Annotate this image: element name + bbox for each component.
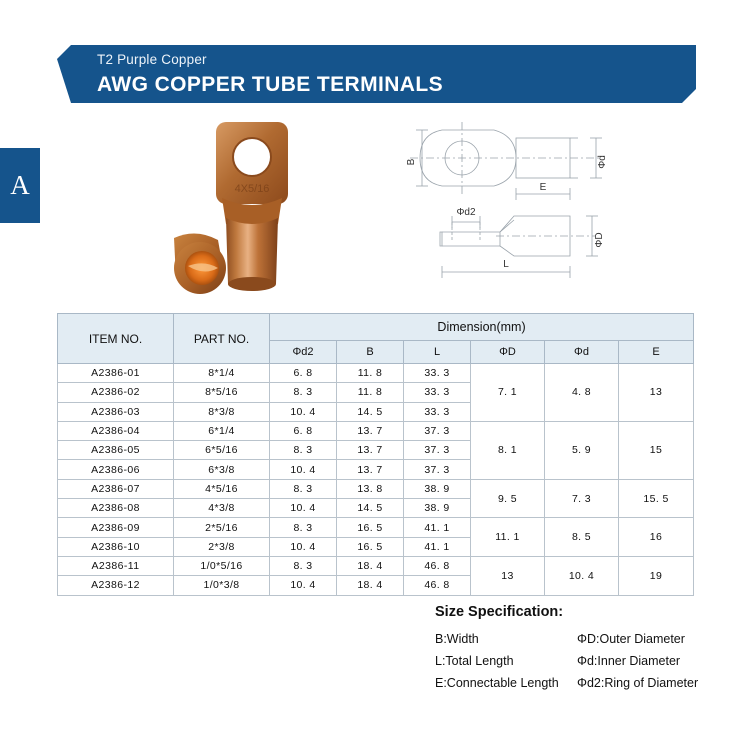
table-row: A2386-111/0*5/168. 318. 446. 81310. 419: [58, 556, 694, 575]
cell-l: 41. 1: [404, 537, 471, 556]
size-spec-right-term: ΦD:Outer Diameter: [577, 632, 685, 646]
cell-l: 33. 3: [404, 364, 471, 383]
cell-b: 13. 8: [337, 479, 404, 498]
cell-part: 4*3/8: [174, 499, 270, 518]
cell-d2: 6. 8: [270, 421, 337, 440]
cell-part: 2*5/16: [174, 518, 270, 537]
cell-l: 37. 3: [404, 441, 471, 460]
cell-part: 1/0*5/16: [174, 556, 270, 575]
col-header-part-no: PART NO.: [174, 314, 270, 364]
table-row: A2386-018*1/46. 811. 833. 37. 14. 813: [58, 364, 694, 383]
cell-phi-D: 7. 1: [471, 364, 545, 422]
size-spec-left-term: E:Connectable Length: [435, 676, 577, 690]
cell-part: 6*1/4: [174, 421, 270, 440]
table-body: A2386-018*1/46. 811. 833. 37. 14. 813A23…: [58, 364, 694, 596]
cell-e: 15. 5: [619, 479, 694, 518]
cell-part: 8*5/16: [174, 383, 270, 402]
table-row: A2386-046*1/46. 813. 737. 38. 15. 915: [58, 421, 694, 440]
cell-part: 6*3/8: [174, 460, 270, 479]
cell-item: A2386-11: [58, 556, 174, 575]
cell-d2: 6. 8: [270, 364, 337, 383]
cell-b: 11. 8: [337, 364, 404, 383]
size-spec-left-term: L:Total Length: [435, 654, 577, 668]
lug-stamp-text: 4X5/16: [235, 183, 270, 195]
cell-d2: 8. 3: [270, 518, 337, 537]
cell-l: 46. 8: [404, 576, 471, 595]
cell-item: A2386-04: [58, 421, 174, 440]
cell-e: 19: [619, 556, 694, 595]
spec-table: ITEM NO. PART NO. Dimension(mm) Φd2 B L …: [57, 313, 694, 596]
cell-item: A2386-10: [58, 537, 174, 556]
table-row: A2386-092*5/168. 316. 541. 111. 18. 516: [58, 518, 694, 537]
cell-l: 46. 8: [404, 556, 471, 575]
side-view-svg: Φd2 ΦD L: [400, 198, 685, 296]
size-spec-left-term: B:Width: [435, 632, 577, 646]
cell-l: 33. 3: [404, 383, 471, 402]
cell-item: A2386-07: [58, 479, 174, 498]
top-view-svg: B Φd E: [400, 112, 685, 204]
cell-e: 16: [619, 518, 694, 557]
cell-item: A2386-08: [58, 499, 174, 518]
cell-b: 14. 5: [337, 499, 404, 518]
cell-d2: 8. 3: [270, 383, 337, 402]
col-header-l: L: [404, 341, 471, 364]
table-head: ITEM NO. PART NO. Dimension(mm) Φd2 B L …: [58, 314, 694, 364]
col-header-phi-d: Φd: [545, 341, 619, 364]
cell-l: 37. 3: [404, 460, 471, 479]
cell-part: 6*5/16: [174, 441, 270, 460]
col-header-item-no: ITEM NO.: [58, 314, 174, 364]
cell-item: A2386-12: [58, 576, 174, 595]
cell-e: 15: [619, 421, 694, 479]
cell-phi-d: 4. 8: [545, 364, 619, 422]
cell-l: 41. 1: [404, 518, 471, 537]
cell-phi-d: 7. 3: [545, 479, 619, 518]
cell-item: A2386-03: [58, 402, 174, 421]
cell-b: 13. 7: [337, 421, 404, 440]
cell-part: 8*1/4: [174, 364, 270, 383]
cell-item: A2386-02: [58, 383, 174, 402]
cell-part: 1/0*3/8: [174, 576, 270, 595]
cell-l: 37. 3: [404, 421, 471, 440]
section-index-tab: A: [0, 148, 40, 223]
cell-b: 18. 4: [337, 556, 404, 575]
cell-part: 8*3/8: [174, 402, 270, 421]
cell-phi-D: 9. 5: [471, 479, 545, 518]
cell-phi-d: 5. 9: [545, 421, 619, 479]
cell-d2: 8. 3: [270, 556, 337, 575]
col-header-phi-d2: Φd2: [270, 341, 337, 364]
table-head-row-1: ITEM NO. PART NO. Dimension(mm): [58, 314, 694, 341]
banner-subtitle: T2 Purple Copper: [97, 51, 696, 69]
cell-b: 16. 5: [337, 537, 404, 556]
col-header-b: B: [337, 341, 404, 364]
cell-item: A2386-09: [58, 518, 174, 537]
cell-phi-D: 11. 1: [471, 518, 545, 557]
cell-part: 4*5/16: [174, 479, 270, 498]
specification-table: ITEM NO. PART NO. Dimension(mm) Φd2 B L …: [57, 313, 693, 596]
lug-barrel-end: [228, 277, 276, 291]
cell-b: 18. 4: [337, 576, 404, 595]
size-specification-list: B:WidthΦD:Outer DiameterL:Total LengthΦd…: [435, 632, 735, 690]
cell-d2: 8. 3: [270, 479, 337, 498]
cell-d2: 10. 4: [270, 402, 337, 421]
cell-item: A2386-01: [58, 364, 174, 383]
cell-part: 2*3/8: [174, 537, 270, 556]
dim-label-e: E: [540, 182, 547, 193]
cell-d2: 10. 4: [270, 576, 337, 595]
cell-l: 33. 3: [404, 402, 471, 421]
cell-b: 16. 5: [337, 518, 404, 537]
cell-b: 13. 7: [337, 441, 404, 460]
cell-b: 11. 8: [337, 383, 404, 402]
col-header-dimension-group: Dimension(mm): [270, 314, 694, 341]
cell-phi-d: 10. 4: [545, 556, 619, 595]
size-specification-block: Size Specification: B:WidthΦD:Outer Diam…: [435, 604, 735, 698]
tongue-edge: [440, 232, 442, 246]
section-index-letter: A: [10, 172, 30, 199]
dim-label-l: L: [503, 259, 509, 270]
cell-d2: 10. 4: [270, 537, 337, 556]
dim-label-b: B: [406, 158, 417, 165]
barrel-side-chamfer: [500, 220, 514, 232]
cell-d2: 10. 4: [270, 460, 337, 479]
technical-drawing-side-view: Φd2 ΦD L: [400, 198, 685, 296]
table-row: A2386-074*5/168. 313. 838. 99. 57. 315. …: [58, 479, 694, 498]
cell-d2: 10. 4: [270, 499, 337, 518]
size-specification-title: Size Specification:: [435, 604, 735, 620]
cell-phi-d: 8. 5: [545, 518, 619, 557]
banner-title: AWG COPPER TUBE TERMINALS: [97, 71, 696, 98]
col-header-e: E: [619, 341, 694, 364]
size-specification-row: L:Total LengthΦd:Inner Diameter: [435, 654, 735, 668]
technical-drawing-top-view: B Φd E: [400, 112, 685, 204]
cell-b: 14. 5: [337, 402, 404, 421]
dim-label-phi-D: ΦD: [594, 232, 605, 247]
size-specification-row: E:Connectable LengthΦd2:Ring of Diameter: [435, 676, 735, 690]
dim-label-phi-d2: Φd2: [456, 207, 476, 218]
cell-l: 38. 9: [404, 479, 471, 498]
cell-e: 13: [619, 364, 694, 422]
product-photo: 4X5/16: [160, 110, 350, 305]
cell-item: A2386-05: [58, 441, 174, 460]
cell-item: A2386-06: [58, 460, 174, 479]
cell-phi-D: 8. 1: [471, 421, 545, 479]
dim-label-phi-d: Φd: [597, 155, 608, 169]
size-specification-row: B:WidthΦD:Outer Diameter: [435, 632, 735, 646]
col-header-phi-D: ΦD: [471, 341, 545, 364]
cell-l: 38. 9: [404, 499, 471, 518]
size-spec-right-term: Φd:Inner Diameter: [577, 654, 680, 668]
cell-phi-D: 13: [471, 556, 545, 595]
size-spec-right-term: Φd2:Ring of Diameter: [577, 676, 698, 690]
copper-lug-photo-svg: 4X5/16: [160, 110, 350, 305]
title-banner: T2 Purple Copper AWG COPPER TUBE TERMINA…: [57, 45, 696, 103]
cell-b: 13. 7: [337, 460, 404, 479]
cell-d2: 8. 3: [270, 441, 337, 460]
